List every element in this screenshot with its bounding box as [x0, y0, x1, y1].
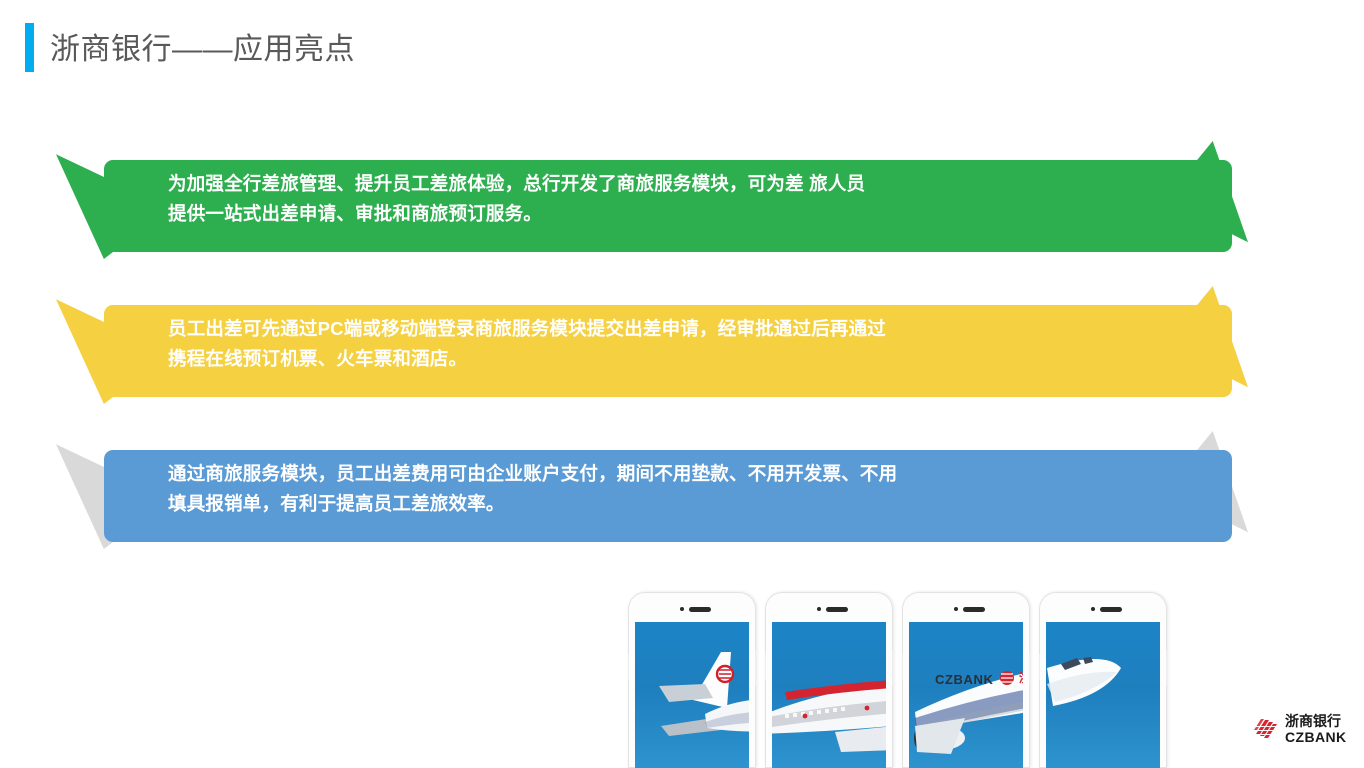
phone-side-button-icon [902, 654, 903, 680]
phone-mockup [1039, 592, 1167, 768]
phone-side-button-icon [1039, 654, 1040, 680]
phone-mockup: CZBANK 浙商银行 [902, 592, 1030, 768]
phone-mockup [628, 592, 756, 768]
banner-text: 为加强全行差旅管理、提升员工差旅体验，总行开发了商旅服务模块，可为差 旅人员 提… [168, 169, 1168, 229]
airplane-photo: CZBANK 浙商银行 [909, 622, 1023, 768]
phone-side-button-icon [892, 650, 893, 686]
phone-mockup-group: CZBANK 浙商银行 [628, 592, 1168, 768]
phone-speaker-icon [963, 607, 985, 612]
phone-side-button-icon [755, 650, 756, 686]
phone-mockup [765, 592, 893, 768]
phone-side-button-icon [765, 654, 766, 680]
phone-speaker-icon [1100, 607, 1122, 612]
airplane-illustration-icon: CZBANK 浙商银行 [909, 622, 1023, 768]
airplane-illustration-icon [635, 622, 749, 768]
brand-name-cn: 浙商银行 [1285, 714, 1347, 728]
phone-screen: CZBANK 浙商银行 [909, 622, 1023, 768]
czbank-logo-icon [1253, 717, 1279, 741]
brand-wordmark: 浙商银行 CZBANK [1285, 714, 1347, 744]
phone-side-button-icon [628, 654, 629, 680]
airplane-photo [635, 622, 749, 768]
phone-side-button-icon [1029, 650, 1030, 686]
phone-camera-icon [1091, 607, 1095, 611]
fuselage-airline-name-cn: 浙商银行 [1019, 670, 1023, 685]
phone-screen [772, 622, 886, 768]
fuselage-airline-code: CZBANK [935, 672, 993, 687]
airplane-illustration-icon [772, 622, 886, 768]
highlight-banner-green: 为加强全行差旅管理、提升员工差旅体验，总行开发了商旅服务模块，可为差 旅人员 提… [0, 133, 1364, 283]
phone-screen [635, 622, 749, 768]
banner-text: 员工出差可先通过PC端或移动端登录商旅服务模块提交出差申请，经审批通过后再通过 … [168, 314, 1168, 374]
phone-camera-icon [817, 607, 821, 611]
slide-canvas: 浙商银行——应用亮点 为加强全行差旅管理、提升员工差旅体验，总行开发了商旅服务模… [0, 0, 1364, 768]
brand-logo: 浙商银行 CZBANK [1253, 709, 1353, 749]
brand-name-en: CZBANK [1285, 730, 1347, 744]
phone-speaker-icon [826, 607, 848, 612]
highlight-banner-yellow: 员工出差可先通过PC端或移动端登录商旅服务模块提交出差申请，经审批通过后再通过 … [0, 278, 1364, 428]
phone-screen [1046, 622, 1160, 768]
phone-speaker-icon [689, 607, 711, 612]
page-title: 浙商银行——应用亮点 [50, 30, 355, 70]
banner-text: 通过商旅服务模块，员工出差费用可由企业账户支付，期间不用垫款、不用开发票、不用 … [168, 459, 1168, 519]
airplane-photo [772, 622, 886, 768]
highlight-banner-blue: 通过商旅服务模块，员工出差费用可由企业账户支付，期间不用垫款、不用开发票、不用 … [0, 423, 1364, 573]
phone-camera-icon [680, 607, 684, 611]
slide-header: 浙商银行——应用亮点 [0, 0, 1364, 95]
airplane-illustration-icon [1046, 622, 1160, 768]
phone-side-button-icon [1166, 650, 1167, 686]
airplane-photo [1046, 622, 1160, 768]
phone-camera-icon [954, 607, 958, 611]
header-accent-bar [25, 23, 34, 72]
